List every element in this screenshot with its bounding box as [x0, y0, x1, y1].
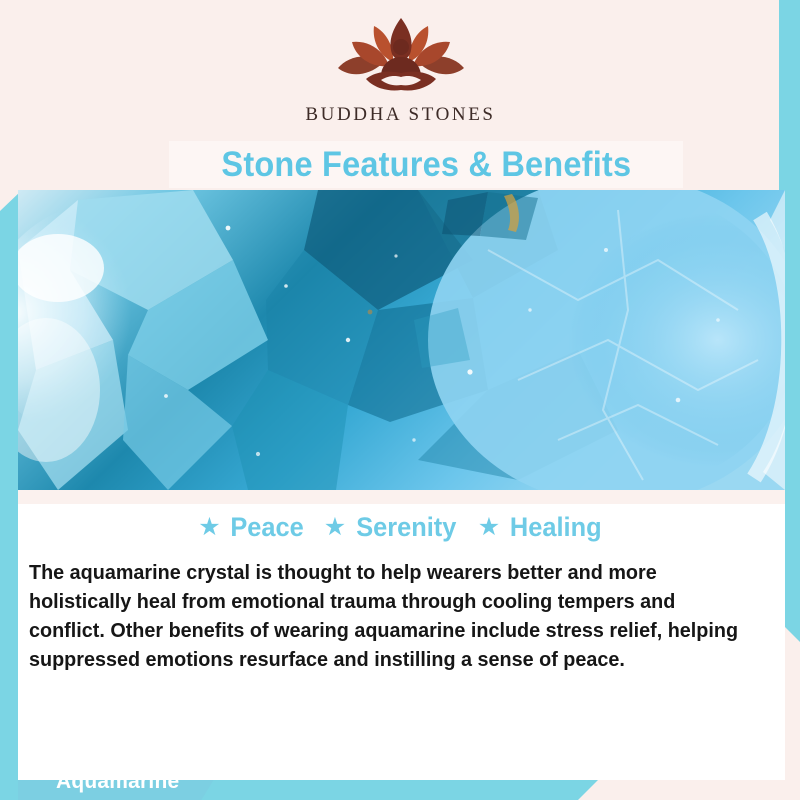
keyword-list: ★ Peace ★ Serenity ★ Healing [18, 512, 785, 543]
header: BUDDHA STONES Stone Features & Benefits [22, 0, 779, 190]
star-icon: ★ [478, 515, 500, 540]
brand-name: BUDDHA STONES [305, 104, 495, 126]
brand-logo: BUDDHA STONES [22, 16, 779, 126]
keyword-label: Healing [510, 512, 602, 543]
keyword-item: ★ Serenity [324, 512, 460, 543]
lotus-meditation-icon [326, 16, 476, 100]
description-paragraph: The aquamarine crystal is thought to hel… [29, 558, 741, 674]
content-panel: ★ Peace ★ Serenity ★ Healing The aquamar… [18, 490, 785, 780]
star-icon: ★ [324, 515, 346, 540]
content-top-strip [18, 490, 785, 504]
keyword-item: ★ Peace [198, 512, 306, 543]
poster-canvas: BUDDHA STONES Stone Features & Benefits [0, 0, 800, 800]
aquamarine-crystal-photo [18, 190, 785, 490]
page-title: Stone Features & Benefits [221, 145, 631, 185]
keyword-label: Peace [230, 512, 303, 543]
keyword-label: Serenity [356, 512, 456, 543]
star-icon: ★ [198, 515, 220, 540]
keyword-item: ★ Healing [478, 512, 605, 543]
title-banner: Stone Features & Benefits [169, 141, 683, 188]
crystal-texture [18, 190, 785, 490]
